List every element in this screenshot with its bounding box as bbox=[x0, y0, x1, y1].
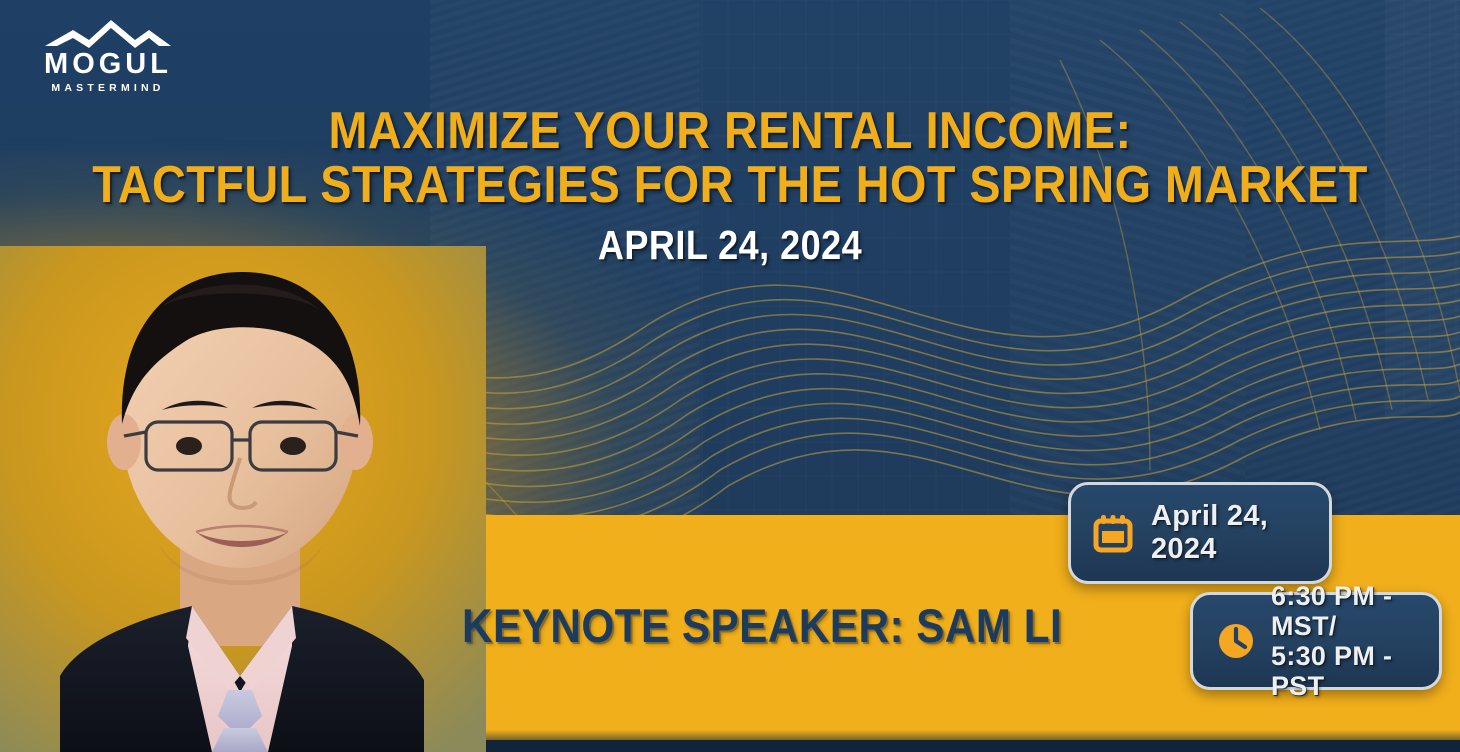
headline-block: MAXIMIZE YOUR RENTAL INCOME: TACTFUL STR… bbox=[0, 104, 1460, 269]
date-value: April 24, 2024 bbox=[1151, 500, 1329, 566]
calendar-icon bbox=[1091, 511, 1135, 555]
clock-icon bbox=[1215, 620, 1257, 662]
headline-date: APRIL 24, 2024 bbox=[88, 222, 1373, 269]
time-info-box: 6:30 PM - MST/ 5:30 PM - PST bbox=[1190, 592, 1442, 690]
speaker-photo bbox=[0, 246, 486, 752]
webinar-banner: MOGUL MASTERMIND MAXIMIZE YOUR RENTAL IN… bbox=[0, 0, 1460, 752]
mountain-range-icon bbox=[43, 18, 173, 48]
headline-line-2: TACTFUL STRATEGIES FOR THE HOT SPRING MA… bbox=[73, 158, 1387, 212]
keynote-speaker-label: KEYNOTE SPEAKER: SAM LI bbox=[462, 598, 1038, 653]
date-info-box: April 24, 2024 bbox=[1068, 482, 1332, 584]
brand-logo[interactable]: MOGUL MASTERMIND bbox=[18, 18, 198, 94]
headline-line-1: MAXIMIZE YOUR RENTAL INCOME: bbox=[73, 104, 1387, 158]
brand-name: MOGUL bbox=[18, 50, 198, 79]
time-value: 6:30 PM - MST/ 5:30 PM - PST bbox=[1271, 581, 1439, 702]
brand-tagline: MASTERMIND bbox=[18, 83, 198, 94]
